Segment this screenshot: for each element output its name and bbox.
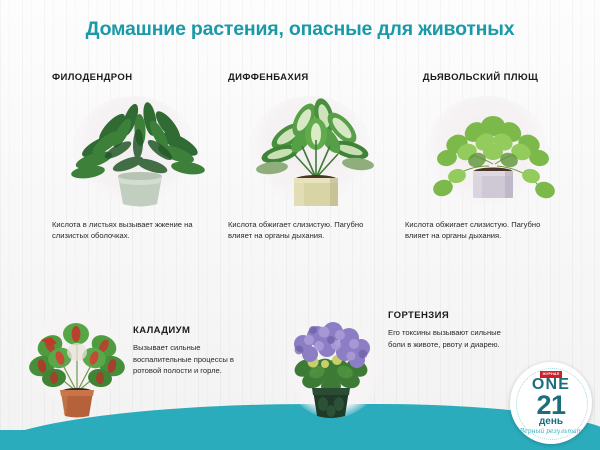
dieffenbachia-illustration [236, 88, 396, 213]
hydrangea-illustration [277, 312, 385, 422]
page-title: Домашние растения, опасные для животных [0, 18, 600, 41]
plant-card-hydrangea: ГОРТЕНЗИЯ Его токсины вызывают сильные б… [388, 310, 508, 350]
brand-badge[interactable]: ЖУРНАЛ ONE 21 день Верный результат [510, 362, 592, 444]
plant-description-dieffenbachia: Кислота обжигает слизистую. Пагубно влия… [228, 219, 388, 242]
philodendron-photo [60, 88, 220, 213]
plant-name-dieffenbachia: ДИФФЕНБАХИЯ [228, 72, 403, 84]
caladium-illustration [20, 300, 135, 420]
devils-ivy-illustration [413, 88, 573, 213]
plant-description-philodendron: Кислота в листьях вызывает жжение на сли… [52, 219, 212, 242]
caladium-photo [20, 300, 135, 420]
plant-card-dieffenbachia: ДИФФЕНБАХИЯ [228, 72, 403, 242]
plant-name-caladium: КАЛАДИУМ [133, 325, 258, 336]
plant-name-devils-ivy: ДЬЯВОЛЬСКИЙ ПЛЮЩ [405, 72, 580, 84]
hydrangea-photo [277, 312, 385, 422]
plant-description-caladium: Вызывает сильные воспалительные процессы… [133, 342, 258, 377]
plant-description-devils-ivy: Кислота обжигает слизистую. Пагубно влия… [405, 219, 565, 242]
badge-dotted-ring [516, 368, 588, 440]
dieffenbachia-photo [236, 88, 396, 213]
plant-name-hydrangea: ГОРТЕНЗИЯ [388, 310, 508, 321]
plant-card-philodendron: ФИЛОДЕНДРОН [52, 72, 227, 242]
plant-name-philodendron: ФИЛОДЕНДРОН [52, 72, 227, 84]
plant-card-devils-ivy: ДЬЯВОЛЬСКИЙ ПЛЮЩ [405, 72, 580, 242]
infographic-poster: Домашние растения, опасные для животных … [0, 0, 600, 450]
plant-card-caladium: КАЛАДИУМ Вызывает сильные воспалительные… [133, 325, 258, 377]
philodendron-illustration [60, 88, 220, 213]
devils-ivy-photo [413, 88, 573, 213]
plant-description-hydrangea: Его токсины вызывают сильные боли в живо… [388, 327, 508, 350]
